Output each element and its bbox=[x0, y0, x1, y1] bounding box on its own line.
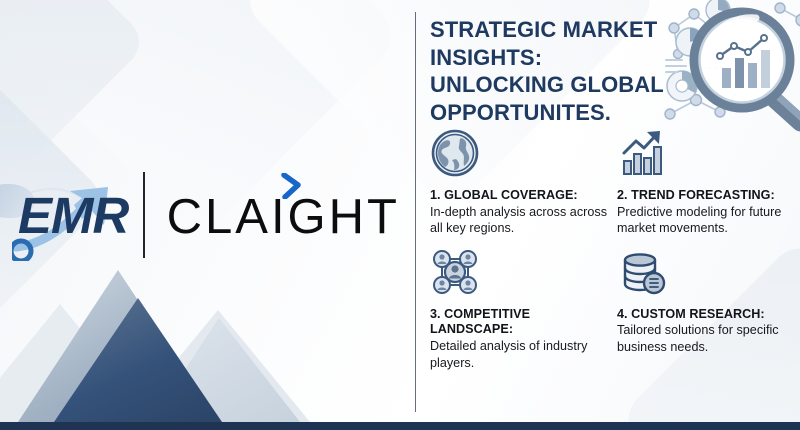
bg-mountain-shape bbox=[18, 270, 218, 422]
feature-trend-forecasting: 2. TREND FORECASTING: Predictive modelin… bbox=[617, 128, 800, 237]
trending-up-bar-chart-icon bbox=[617, 128, 667, 178]
bg-mountain-shape bbox=[126, 310, 310, 422]
feature-description: Detailed analysis of industry players. bbox=[430, 338, 611, 371]
bg-mountain-shape bbox=[150, 318, 300, 422]
database-research-icon bbox=[617, 247, 667, 297]
features-grid: 1. GLOBAL COVERAGE: In-depth analysis ac… bbox=[430, 128, 800, 371]
content-pane: Strategic Market Insights: Unlocking Glo… bbox=[430, 0, 800, 430]
emr-logo: EMR bbox=[8, 163, 135, 267]
globe-icon bbox=[430, 128, 480, 178]
logo-lockup: EMR CLAIGHT bbox=[0, 150, 400, 280]
feature-description: In-depth analysis across across all key … bbox=[430, 204, 611, 237]
feature-global-coverage: 1. GLOBAL COVERAGE: In-depth analysis ac… bbox=[430, 128, 617, 237]
emr-wordmark: EMR bbox=[18, 190, 128, 241]
bg-mountain-shape bbox=[54, 298, 222, 422]
feature-description: Tailored solutions for specific business… bbox=[617, 322, 794, 355]
feature-title: 3. COMPETITIVE LANDSCAPE: bbox=[430, 307, 611, 339]
logo-divider bbox=[143, 172, 145, 258]
section-divider bbox=[415, 12, 416, 412]
page-title: Strategic Market Insights: Unlocking Glo… bbox=[430, 16, 680, 127]
feature-title: 2. TREND FORECASTING: bbox=[617, 188, 794, 204]
feature-competitive-landscape: 3. COMPETITIVE LANDSCAPE: Detailed analy… bbox=[430, 247, 617, 371]
claight-logo: CLAIGHT bbox=[167, 189, 400, 242]
people-network-icon bbox=[430, 247, 480, 297]
magnifying-glass-bar-chart-icon bbox=[660, 0, 800, 139]
chevron-right-accent-icon bbox=[280, 173, 302, 199]
feature-title: 1. GLOBAL COVERAGE: bbox=[430, 188, 611, 204]
bg-mountain-shape bbox=[0, 304, 156, 422]
feature-description: Predictive modeling for future market mo… bbox=[617, 204, 794, 237]
feature-custom-research: 4. CUSTOM RESEARCH: Tailored solutions f… bbox=[617, 247, 800, 371]
promo-banner: EMR CLAIGHT Strategic Market Insights: U… bbox=[0, 0, 800, 430]
feature-title: 4. CUSTOM RESEARCH: bbox=[617, 307, 794, 323]
